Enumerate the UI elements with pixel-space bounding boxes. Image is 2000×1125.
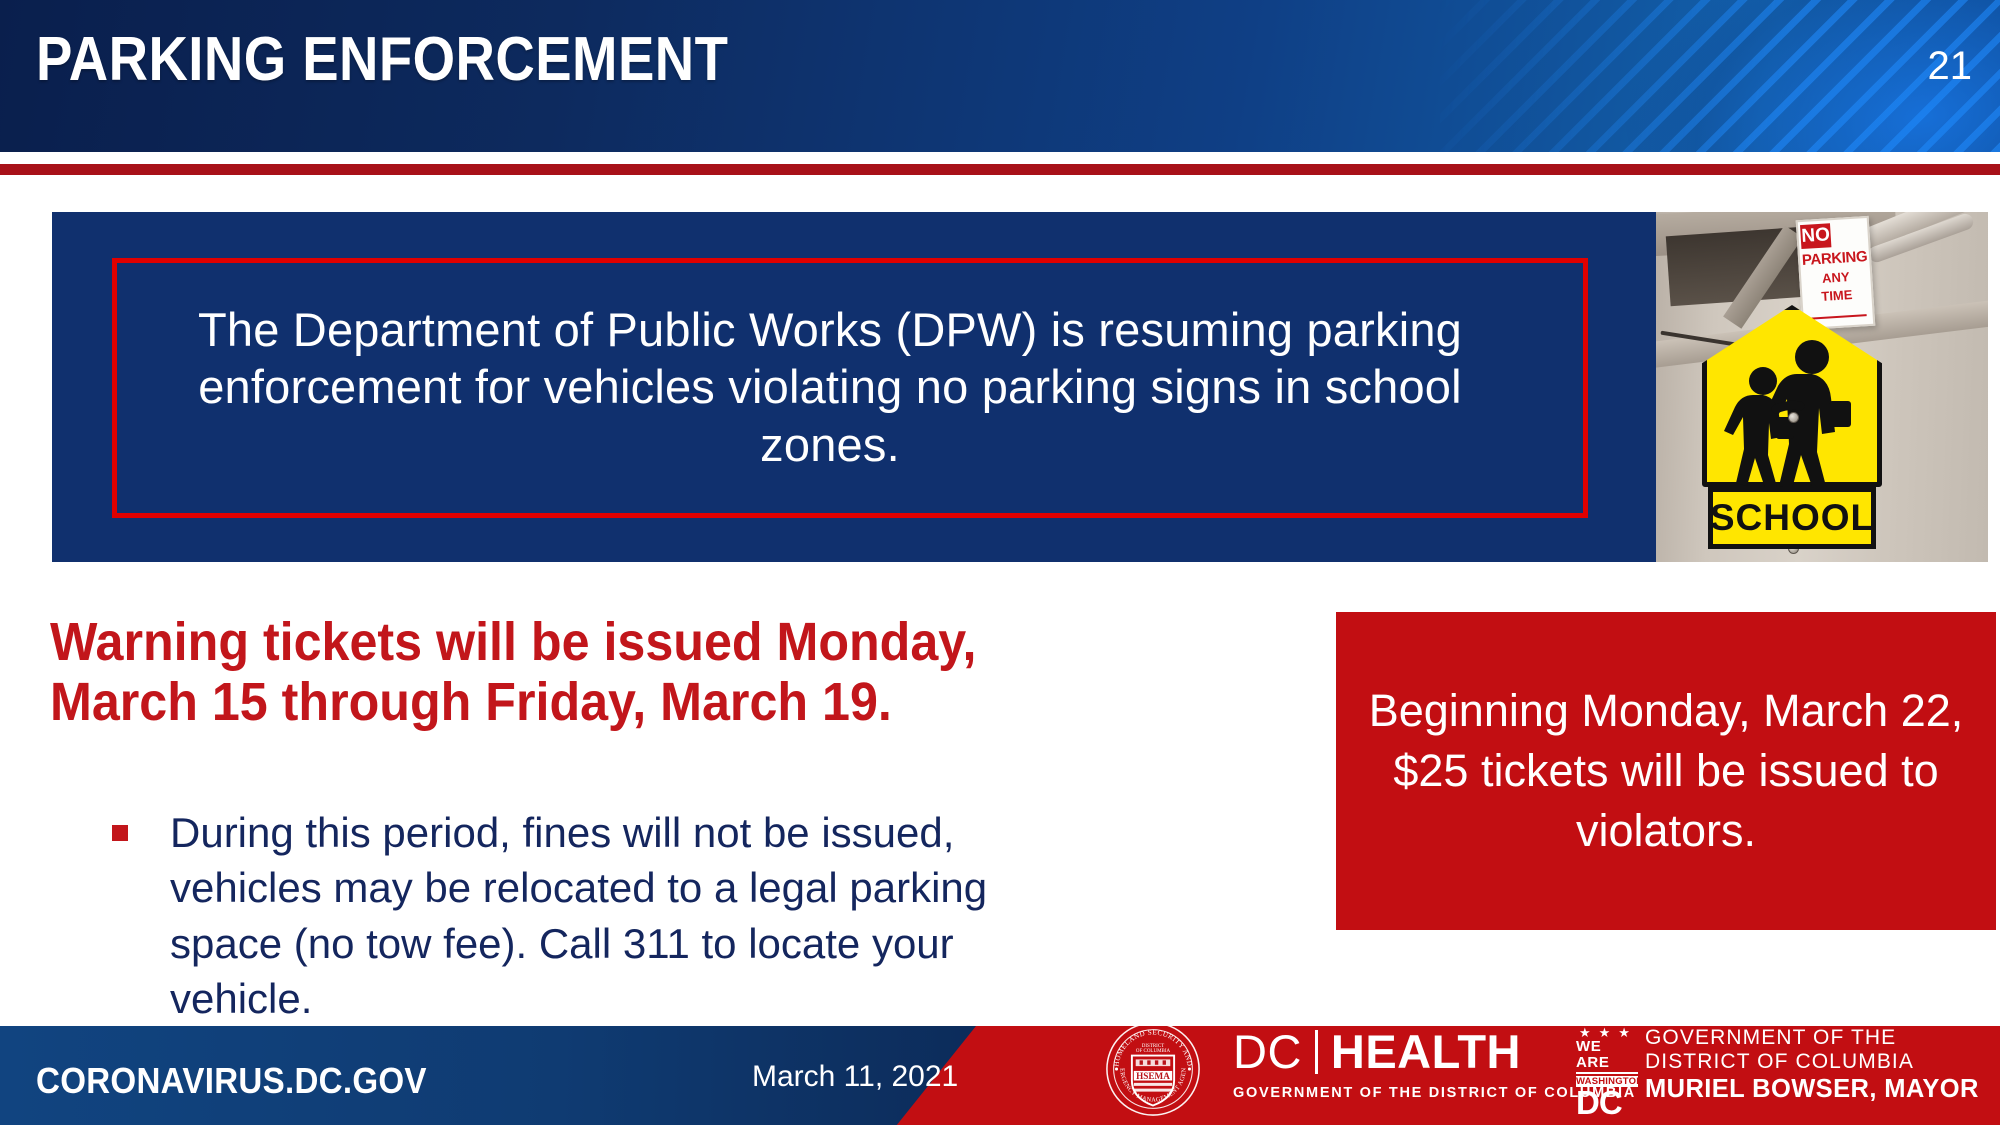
no-parking-sign-parking: PARKING (1800, 248, 1870, 269)
we-are-washington-dc-logo: ★★★ WE ARE WASHINGTON DC GOVERNMENT OF T… (1576, 1026, 1979, 1118)
svg-text:HSEMA: HSEMA (1136, 1071, 1170, 1081)
pedestrian-crossing-icon (1702, 305, 1882, 487)
slide-header: PARKING ENFORCEMENT 21 (0, 0, 2000, 152)
header-diagonal-stripes-decoration (1440, 0, 2000, 152)
no-parking-sign-no: NO (1800, 223, 1831, 249)
government-line-2: DISTRICT OF COLUMBIA (1645, 1050, 1979, 1074)
school-zone-no-parking-photo: NO PARKING ANY TIME SCHOOL (1656, 212, 1988, 562)
svg-text:OF COLUMBIA: OF COLUMBIA (1136, 1049, 1171, 1054)
mayor-name: MURIEL BOWSER, MAYOR (1645, 1075, 1979, 1103)
dc-health-divider (1315, 1030, 1318, 1074)
government-lockup-text: GOVERNMENT OF THE DISTRICT OF COLUMBIA M… (1645, 1026, 1979, 1103)
government-line-1: GOVERNMENT OF THE (1645, 1026, 1979, 1050)
svg-text:DISTRICT: DISTRICT (1142, 1044, 1164, 1049)
fact-callout-text: Beginning Monday, March 22, $25 tickets … (1360, 681, 1972, 861)
callout-text: The Department of Public Works (DPW) is … (80, 212, 1580, 562)
warning-heading: Warning tickets will be issued Monday, M… (50, 612, 980, 733)
no-parking-sign-any: ANY (1801, 268, 1871, 287)
slide-number: 21 (1928, 44, 1973, 89)
square-bullet-icon (112, 825, 128, 841)
school-sign-bolt-top (1788, 412, 1799, 423)
footer-date: March 11, 2021 (752, 1060, 958, 1094)
school-crossing-sign: SCHOOL (1702, 305, 1882, 555)
footer-website-link[interactable]: CORONAVIRUS.DC.GOV (36, 1060, 427, 1102)
dc-monogram: DC (1576, 1088, 1638, 1118)
we-are-washington-dc-mark: ★★★ WE ARE WASHINGTON DC (1576, 1026, 1638, 1118)
school-sign-label: SCHOOL (1708, 487, 1876, 549)
header-red-divider (0, 164, 2000, 175)
dc-health-health: HEALTH (1331, 1028, 1521, 1075)
page-title: PARKING ENFORCEMENT (36, 24, 728, 95)
list-item-text: During this period, fines will not be is… (170, 805, 1052, 1027)
bullet-list: During this period, fines will not be is… (112, 805, 1052, 1027)
hsema-seal-logo: HOMELAND SECURITY AND EMERGENCY MANAGEME… (1105, 1021, 1201, 1117)
fact-callout-box: Beginning Monday, March 22, $25 tickets … (1336, 612, 1996, 930)
list-item: During this period, fines will not be is… (112, 805, 1052, 1027)
dc-health-dc: DC (1233, 1028, 1302, 1075)
no-parking-sign-time: TIME (1802, 286, 1872, 305)
we-are-label: WE ARE (1576, 1039, 1638, 1074)
